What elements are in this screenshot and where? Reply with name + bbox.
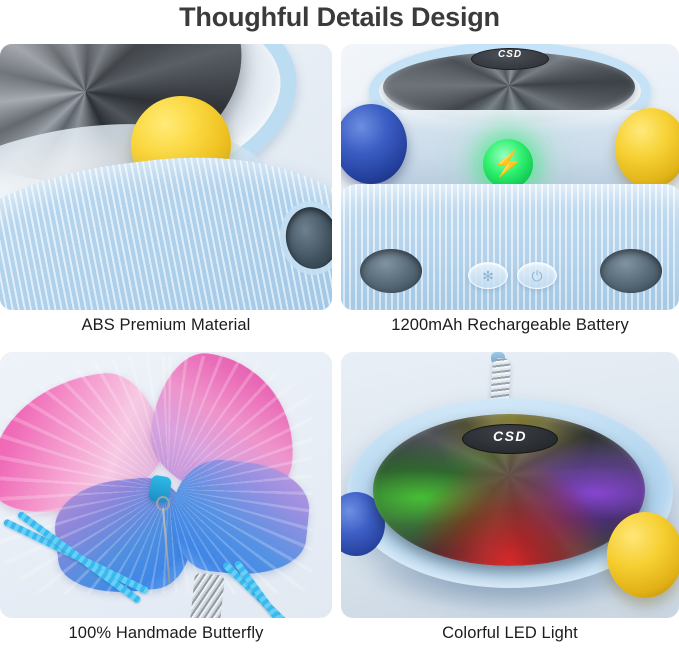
caption-colorful-led-light: Colorful LED Light: [341, 624, 679, 643]
lightning-bolt-icon: ⚡: [483, 147, 533, 181]
brightness-icon: ✻: [469, 267, 507, 285]
caption-rechargeable-battery: 1200mAh Rechargeable Battery: [341, 316, 679, 335]
brand-hub: CSD: [471, 48, 549, 70]
photo-colorful-led-light: CSD: [341, 352, 679, 618]
power-icon: ⏻: [518, 267, 556, 285]
photo-rechargeable-battery: CSD ⚡ ✻ ⏻: [341, 44, 679, 310]
panel-abs-premium-material: ABS Premium Material: [0, 44, 332, 354]
caption-abs-premium-material: ABS Premium Material: [0, 316, 332, 335]
brand-label: CSD: [463, 428, 557, 444]
side-port-hole-left: [360, 249, 422, 293]
side-port-hole-right: [600, 249, 662, 293]
photo-abs-premium-material: [0, 44, 332, 310]
page-title: Thoughful Details Design: [0, 2, 679, 33]
charging-indicator: ⚡: [483, 139, 533, 189]
product-feature-collage: Thoughful Details Design ABS Premium Mat…: [0, 0, 679, 662]
power-button[interactable]: ⏻: [517, 262, 557, 289]
yellow-ball: [615, 108, 679, 188]
light-mode-button[interactable]: ✻: [468, 262, 508, 289]
photo-handmade-butterfly: [0, 352, 332, 618]
caption-handmade-butterfly: 100% Handmade Butterfly: [0, 624, 332, 643]
metal-spring: [189, 573, 225, 618]
panel-colorful-led-light: CSD Colorful LED Light: [341, 352, 679, 662]
yellow-ball: [607, 512, 679, 598]
panel-handmade-butterfly: 100% Handmade Butterfly: [0, 352, 332, 662]
brand-label: CSD: [472, 49, 548, 60]
panel-grid: ABS Premium Material CSD ⚡: [0, 44, 679, 662]
panel-rechargeable-battery: CSD ⚡ ✻ ⏻ 1200mAh Rechargeable Battery: [341, 44, 679, 354]
brand-hub: CSD: [462, 424, 558, 454]
